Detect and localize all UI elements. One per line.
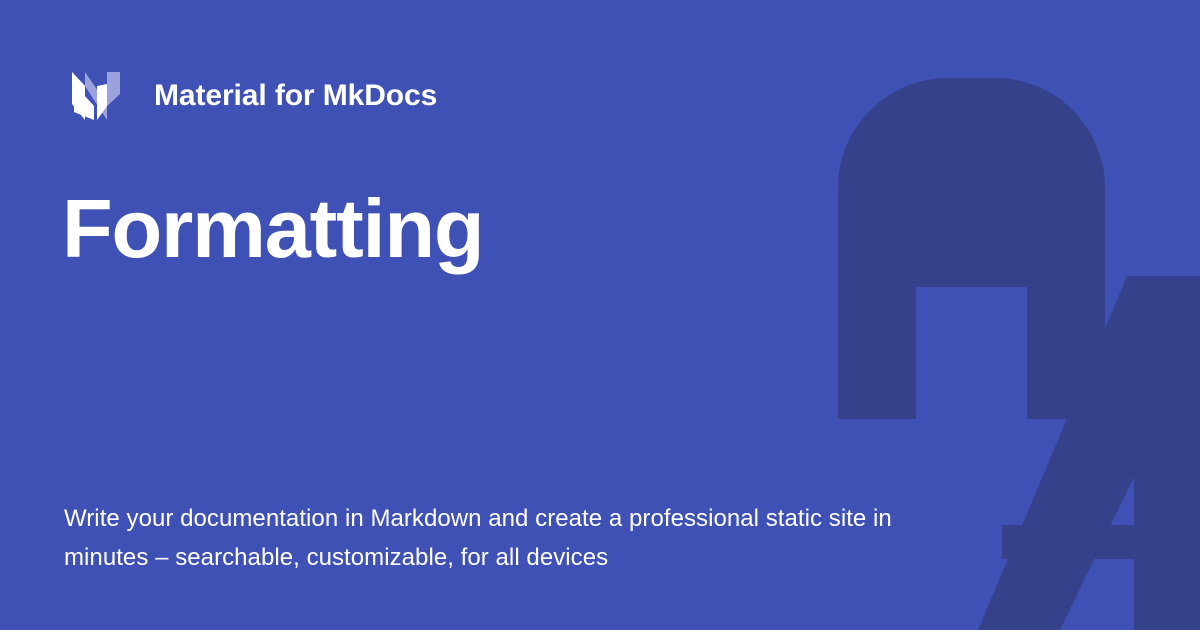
mkdocs-material-logo-svg (64, 64, 128, 128)
mkdocs-material-logo-icon (64, 64, 128, 128)
site-name: Material for MkDocs (154, 81, 437, 111)
header: Material for MkDocs (64, 64, 437, 128)
page-description: Write your documentation in Markdown and… (64, 500, 894, 578)
glyph-primary-letter-a (838, 78, 1105, 419)
glyph-secondary-letter-a (842, 232, 1200, 630)
social-card: Material for MkDocs Formatting Write you… (0, 0, 1200, 630)
page-title: Formatting (62, 184, 820, 274)
